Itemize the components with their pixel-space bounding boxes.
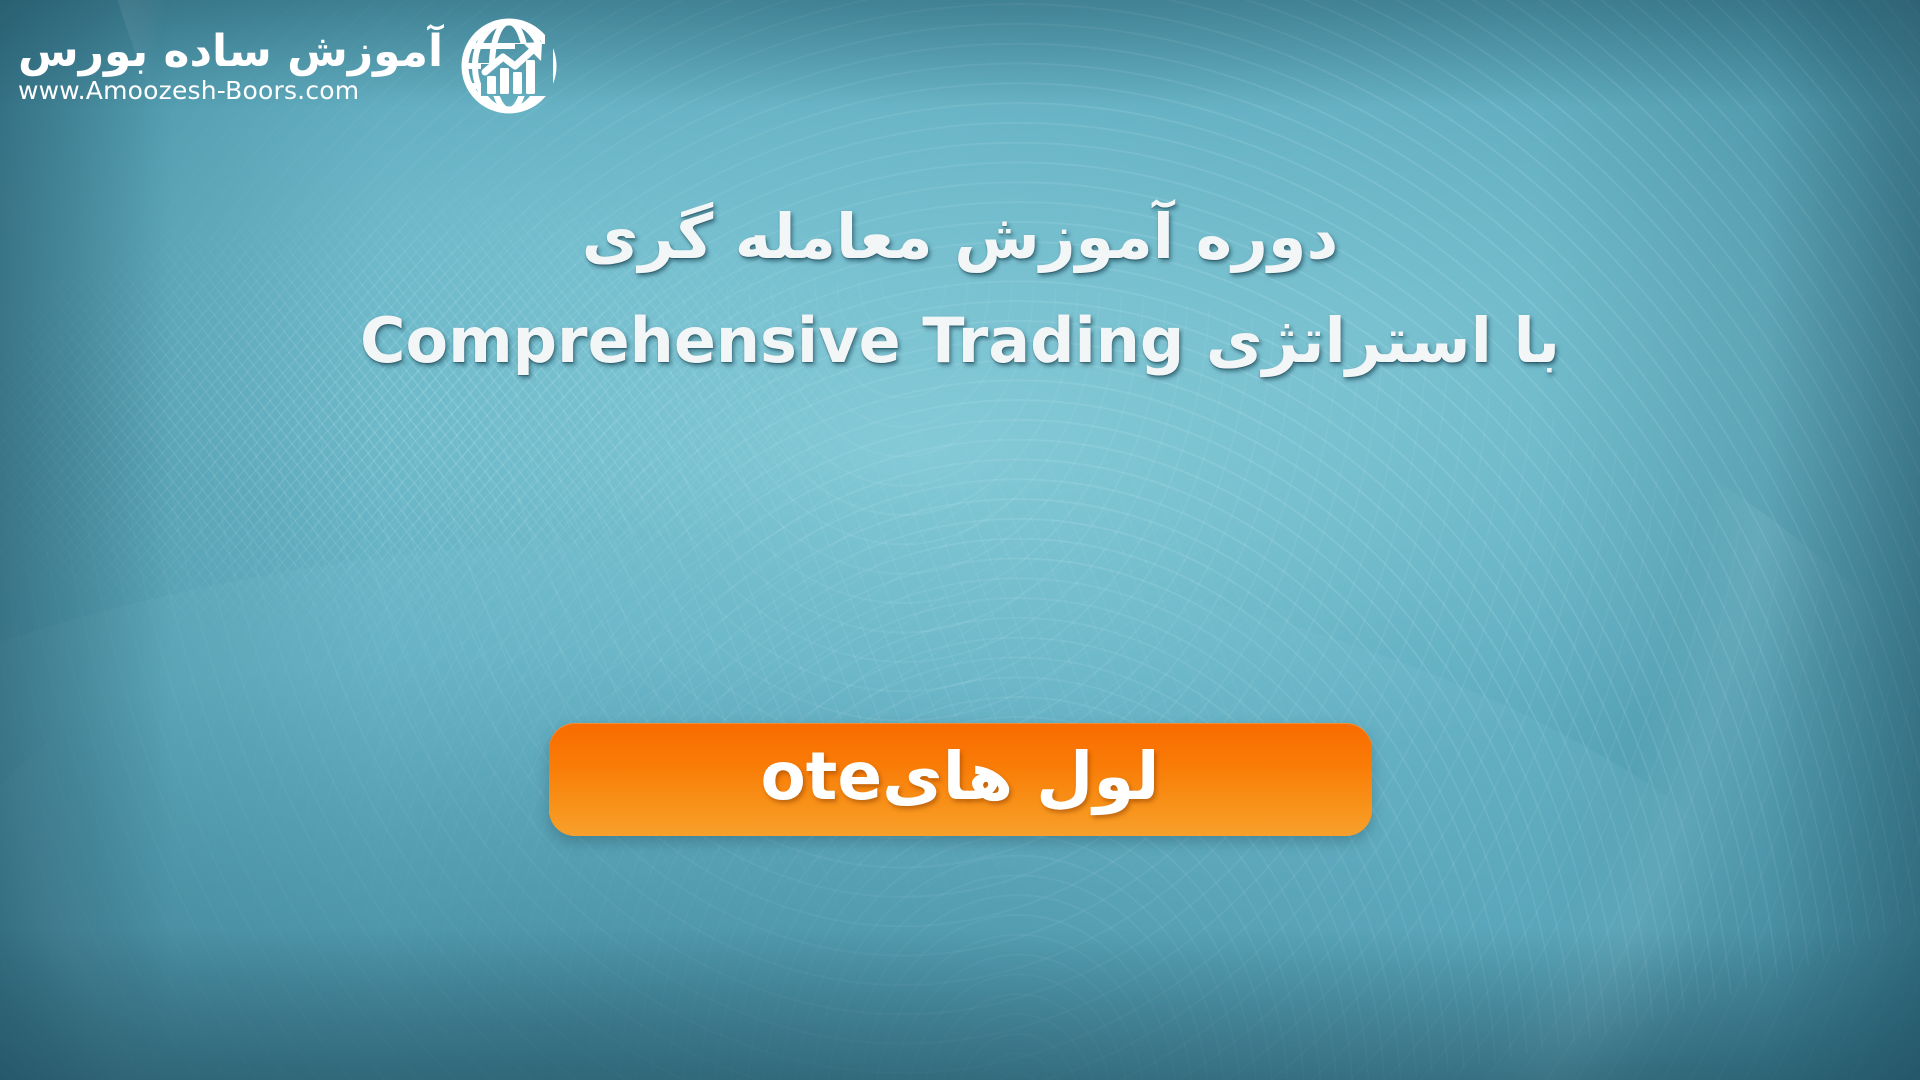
title-line-2: با استراتژی Comprehensive Trading — [0, 310, 1920, 372]
ote-levels-button[interactable]: لول های ote — [549, 723, 1372, 836]
globe-bar-chart-icon — [457, 14, 561, 118]
logo-website-url: www.Amoozesh-Boors.com — [18, 78, 359, 103]
cta-container: لول های ote — [0, 723, 1920, 836]
site-logo[interactable]: آموزش ساده بورس www.Amoozesh-Boors.com — [18, 14, 561, 118]
cta-label-fa: لول های — [882, 738, 1159, 815]
page-title: دوره آموزش معامله گری با استراتژی Compre… — [0, 206, 1920, 372]
title-line-1: دوره آموزش معامله گری — [0, 206, 1920, 268]
title-line-2-latin: Comprehensive Trading — [360, 310, 1184, 372]
banner-canvas: آموزش ساده بورس www.Amoozesh-Boors.com د… — [0, 0, 1920, 1080]
title-line-2-prefix: با استراتژی — [1184, 304, 1560, 377]
logo-brand-text: آموزش ساده بورس — [18, 30, 443, 74]
cta-label-latin: ote — [760, 738, 882, 815]
background-vignette — [0, 0, 1920, 1080]
